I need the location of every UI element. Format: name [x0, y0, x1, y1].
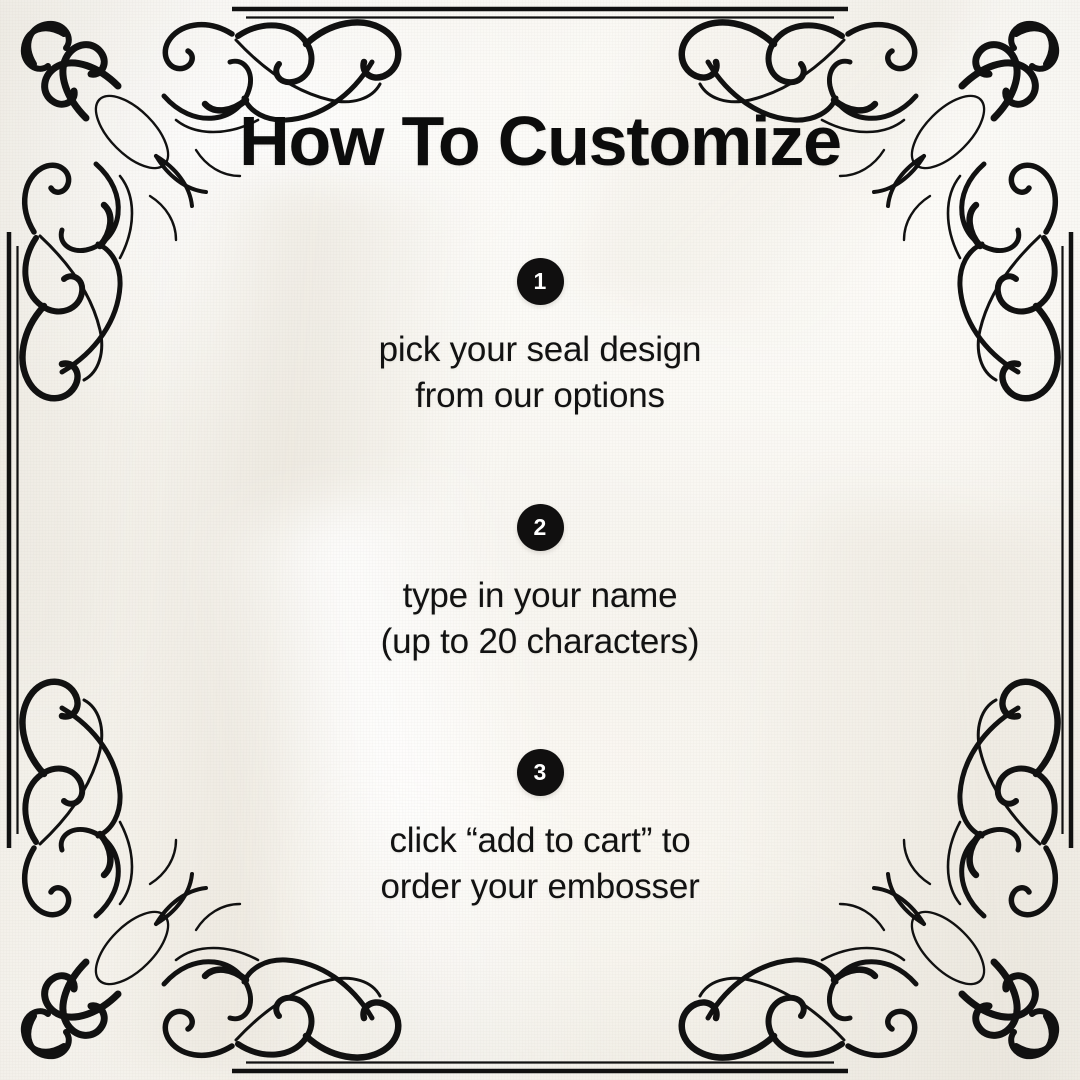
step-number-badge-2: 2 [517, 504, 564, 551]
step-item-2: 2 type in your name (up to 20 characters… [0, 504, 1080, 665]
poster-canvas: How To Customize 1 pick your seal design… [0, 0, 1080, 1080]
step-number-badge-1: 1 [517, 258, 564, 305]
step-text-2: type in your name (up to 20 characters) [381, 573, 700, 665]
poster-content: How To Customize 1 pick your seal design… [0, 0, 1080, 1080]
step-item-3: 3 click “add to cart” to order your embo… [0, 749, 1080, 910]
step-number-badge-3: 3 [517, 749, 564, 796]
step-text-3: click “add to cart” to order your emboss… [380, 818, 699, 910]
page-title: How To Customize [0, 106, 1080, 176]
step-text-1: pick your seal design from our options [379, 327, 702, 419]
step-item-1: 1 pick your seal design from our options [0, 258, 1080, 419]
